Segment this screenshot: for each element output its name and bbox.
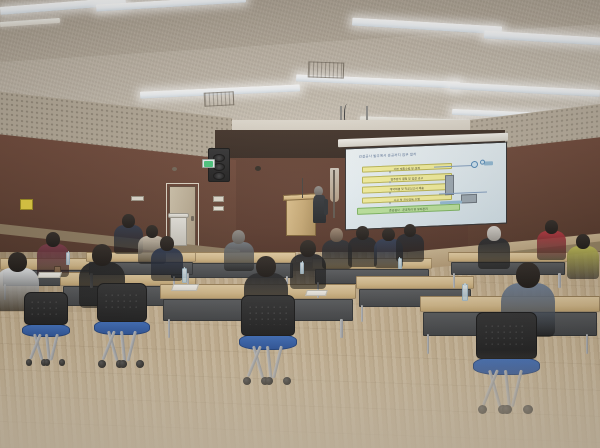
chair-fg-center-backrest[interactable] bbox=[241, 295, 295, 336]
seminar-room-photo: 건설공사 발주에서 준공까지 업무 절차 기본 계획수립 및 설계발주방식 결정… bbox=[0, 0, 600, 448]
chair-mid-left-backrest[interactable] bbox=[24, 292, 68, 326]
floor-foreground-light bbox=[0, 350, 600, 448]
chair-fg-left-backrest[interactable] bbox=[97, 283, 147, 321]
